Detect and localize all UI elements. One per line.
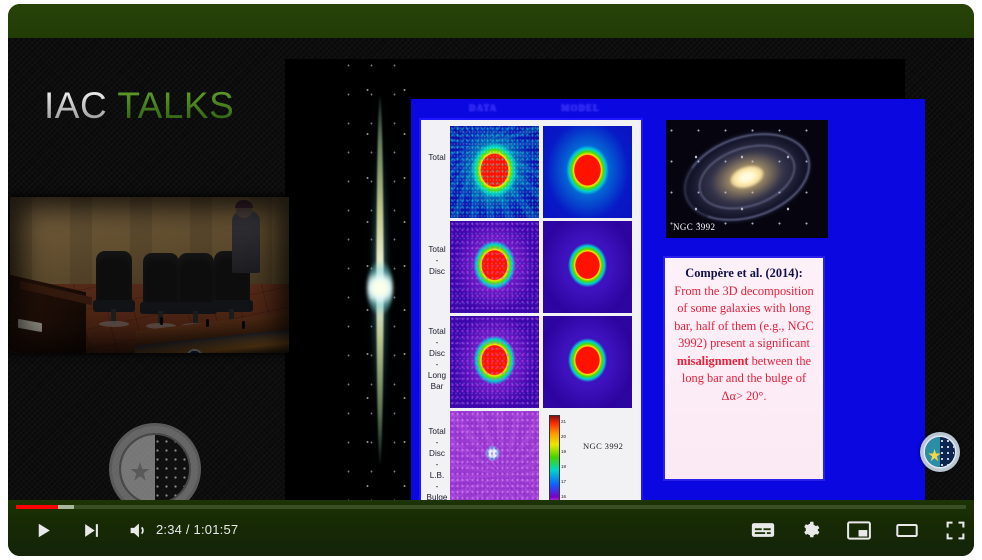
miniplayer-button[interactable] <box>842 514 876 546</box>
figure-header-model: MODEL <box>561 103 600 113</box>
subtitles-button[interactable] <box>746 514 780 546</box>
textbox-line-4: half of them (e.g., NGC <box>696 319 814 333</box>
video-stage[interactable]: IAC TALKS <box>8 38 974 500</box>
volume-button[interactable] <box>121 514 155 546</box>
video-player: IAC TALKS <box>0 0 982 560</box>
brand-iac-text: IAC <box>44 85 107 126</box>
next-track-icon <box>82 521 101 540</box>
colorbar-tick: 18 <box>561 464 566 469</box>
presentation-slide: DATA MODEL Total Total-Disc Total-Disc-L… <box>411 99 925 500</box>
progress-played <box>16 505 58 509</box>
figure-panel-grid: 21 20 19 18 17 16 NGC 3992 <box>450 126 636 500</box>
player-shell: IAC TALKS <box>8 4 974 556</box>
panel-model-total <box>543 126 632 218</box>
panel-model-total-minus-disc-longbar <box>543 316 632 408</box>
panel-data-total <box>450 126 539 218</box>
decomposition-figure: DATA MODEL Total Total-Disc Total-Disc-L… <box>419 118 643 500</box>
figure-row-label: Total-Disc <box>424 244 450 277</box>
webcam-vignette <box>10 197 289 353</box>
brand-talks-text: TALKS <box>117 85 234 126</box>
progress-bar[interactable] <box>16 505 966 509</box>
colorbar-tick: 17 <box>561 479 566 484</box>
volume-icon <box>128 520 149 541</box>
iac-logo <box>920 432 960 472</box>
gear-icon <box>801 520 821 540</box>
figure-header-data: DATA <box>469 103 497 113</box>
textbox-heading: Compère et al. (2014): <box>671 265 817 283</box>
panel-model-total-minus-disc <box>543 221 632 313</box>
panel-data-total-minus-disc <box>450 221 539 313</box>
textbox-line-1: From the 3D <box>674 284 737 298</box>
play-icon <box>34 521 53 540</box>
colorbar <box>549 415 560 500</box>
figure-colorbar-group: 21 20 19 18 17 16 NGC 3992 <box>547 413 635 500</box>
colorbar-tick: 16 <box>561 494 566 499</box>
starfield-pattern <box>153 437 187 500</box>
subtitles-icon <box>751 521 775 539</box>
starfield-pattern <box>939 438 954 467</box>
colorbar-tick: 21 <box>561 419 566 424</box>
slide-text-box: Compère et al. (2014):From the 3D decomp… <box>663 256 825 481</box>
play-button[interactable] <box>26 514 60 546</box>
textbox-line-6a: significant <box>758 336 810 350</box>
panel-residual-total-minus-disc-lb-bulge <box>450 411 539 500</box>
settings-button[interactable] <box>794 514 828 546</box>
iac-talks-wordmark: IAC TALKS <box>44 85 234 127</box>
time-display: 2:34 / 1:01:57 <box>156 522 238 537</box>
colorbar-ticks: 21 20 19 18 17 16 <box>561 413 579 500</box>
theater-mode-button[interactable] <box>890 514 924 546</box>
textbox-line-5: 3992) present a <box>678 336 754 350</box>
next-track-button[interactable] <box>74 514 108 546</box>
galaxy-photo-label: NGC 3992 <box>673 222 715 232</box>
iac-seal-logo <box>109 423 201 500</box>
speaker-webcam-inset <box>10 197 289 353</box>
player-top-band <box>8 4 974 38</box>
colorbar-object-label: NGC 3992 <box>583 441 623 451</box>
colorbar-tick: 19 <box>561 449 566 454</box>
textbox-emphasis-misalignment: misalignment <box>677 354 749 368</box>
panel-data-total-minus-disc-longbar <box>450 316 539 408</box>
fullscreen-button[interactable] <box>938 514 972 546</box>
colorbar-tick: 20 <box>561 434 566 439</box>
figure-column-headers: DATA MODEL <box>421 103 641 119</box>
figure-row-label: Total-Disc-L.B.-Bulge <box>424 426 450 500</box>
miniplayer-icon <box>847 521 871 540</box>
player-control-bar: 2:34 / 1:01:57 <box>8 500 974 556</box>
fullscreen-icon <box>945 520 966 541</box>
galaxy-photo: NGC 3992 <box>663 117 831 241</box>
theater-icon <box>895 521 919 540</box>
edge-on-galaxy-image <box>345 59 415 500</box>
figure-row-label: Total <box>424 152 450 163</box>
figure-row-label: Total-Disc-LongBar <box>424 326 450 392</box>
figure-row-labels: Total Total-Disc Total-Disc-LongBar Tota… <box>424 126 450 500</box>
control-button-row: 2:34 / 1:01:57 <box>8 514 974 554</box>
